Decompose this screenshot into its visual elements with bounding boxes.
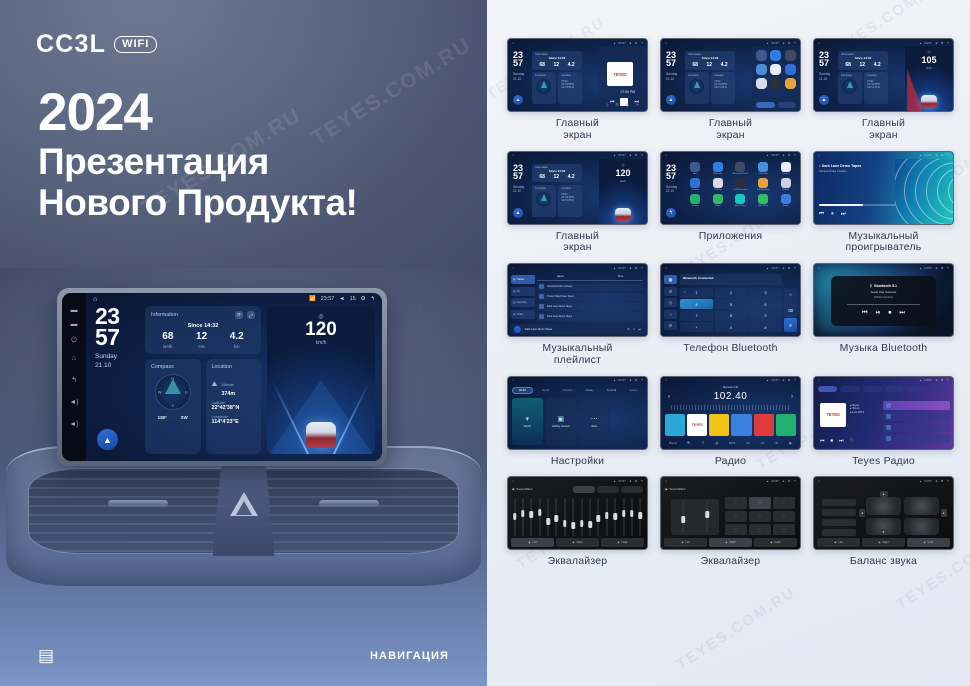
home-icon[interactable]: ⌂ [665, 153, 667, 157]
app-icon[interactable] [756, 50, 767, 61]
preset-key[interactable]: ♪ [749, 524, 771, 535]
dial-key[interactable]: 2 [715, 288, 748, 298]
teyes-tab[interactable] [818, 386, 837, 392]
app-icon[interactable] [735, 178, 745, 188]
dial-key[interactable]: 4 [680, 299, 713, 309]
pause-icon[interactable]: ⏸ [633, 328, 634, 331]
navigation-icon[interactable]: ▲ [97, 429, 118, 450]
slider-knob[interactable] [597, 515, 601, 522]
app-item[interactable]: FileManager [753, 178, 774, 191]
screen-thumbnail[interactable]: ⌂ ▴ 23:57 ◄ ⚙ ↰ WLANSoundCommonDisplayPe… [507, 376, 648, 450]
preset-grid[interactable]: ♪♪♪♪♪♪♪♪♪ [725, 497, 795, 535]
thumb-home-screen-speed[interactable]: ⌂ ▴ 23:57 ◄ ⚙ ↰2357 Sunday21.10 ▲ Inform… [507, 151, 648, 255]
settings-tab[interactable]: Sound [536, 387, 555, 394]
navigation-icon[interactable]: ▲ [513, 208, 523, 218]
mini-player[interactable]: Dark Lane Demo Tapes ⏮ ⏸ ⏭ [511, 324, 644, 334]
favorites-tab[interactable]: ☆ [664, 310, 677, 319]
screen-thumbnail[interactable]: ⌂ ▴ 23:57 ◄ ⚙ ↰ TEYES ● Teyes ● Top.ru ●… [813, 376, 954, 450]
app-icon[interactable] [756, 78, 767, 89]
back-icon[interactable]: ↰ [793, 41, 796, 45]
screen-thumbnail[interactable]: ⌂ ▴ 23:57 ◄ ⚙ ↰ ◉Sound Effect [507, 476, 648, 550]
prev-icon[interactable]: ⏮ [820, 438, 825, 444]
compass-card[interactable]: Compass [532, 72, 556, 104]
back-icon[interactable]: ↰ [640, 378, 643, 382]
knob-icon[interactable]: ▬ [71, 321, 78, 328]
app-icon[interactable] [785, 78, 796, 89]
next-icon[interactable]: ⏭ [841, 211, 846, 218]
speaker-icon[interactable] [904, 497, 939, 515]
balance-down-button[interactable]: ▼ [880, 529, 888, 535]
preset-button[interactable] [573, 486, 595, 493]
slider-knob[interactable] [705, 511, 709, 518]
home-icon[interactable]: ⌂ [93, 296, 97, 303]
home-icon[interactable]: ⌂ [818, 266, 820, 270]
thumb-music-playlist[interactable]: ⌂ ▴ 23:57 ◄ ⚙ ↰ ▤Tracks▤All▤Favorites▤Ar… [507, 263, 648, 367]
balance-preset[interactable] [822, 519, 856, 526]
back-icon[interactable]: ↰ [793, 266, 796, 270]
screen-thumbnail[interactable]: ⌂ ▴ 23:57 ◄ ⚙ ↰ ◉Sound Effect ♪♪♪♪♪♪♪♪♪ … [660, 476, 801, 550]
home-icon[interactable]: ⌂ [818, 378, 820, 382]
speaker-icon[interactable] [866, 497, 901, 515]
eq-band-slider[interactable] [580, 498, 583, 536]
home-icon[interactable]: ⌂ [665, 479, 667, 483]
app-icon[interactable] [781, 194, 791, 204]
app-icon[interactable] [690, 178, 700, 188]
eq-band-slider[interactable] [639, 498, 642, 536]
preset-tile[interactable] [754, 414, 774, 436]
recent-tab[interactable]: ◷ [664, 298, 677, 307]
app-item[interactable]: DVR Recorder [730, 178, 751, 191]
balance-preset[interactable] [822, 499, 856, 506]
dial-key[interactable]: 5 [715, 299, 748, 309]
footer-button[interactable]: ◉Right [709, 538, 752, 547]
eq-band-slider[interactable] [630, 498, 633, 536]
dial-key[interactable]: 6 [749, 299, 782, 309]
volume-down-icon[interactable]: ◄) [69, 399, 78, 406]
footer-button[interactable]: ◉Fade [754, 538, 797, 547]
next-station-icon[interactable]: › [791, 394, 793, 400]
favorite-icon[interactable]: ♡ [850, 438, 854, 444]
table-row[interactable]: Dark Lane Demo Tapes [537, 313, 643, 321]
station-row[interactable] [883, 401, 950, 410]
settings-card[interactable]: ▣ CarPlay Connect [546, 398, 577, 445]
app-item[interactable]: Camera [775, 162, 796, 175]
station-row[interactable] [883, 412, 950, 421]
slider-knob[interactable] [546, 518, 550, 525]
slider-knob[interactable] [630, 510, 634, 517]
location-card[interactable]: Location ⛰ Altitude 374m [206, 359, 262, 454]
search-icon[interactable]: 🔍 [687, 441, 691, 445]
gear-icon[interactable]: ⚙ [635, 378, 638, 382]
teyes-tab[interactable] [930, 386, 949, 392]
app-icon[interactable] [713, 178, 723, 188]
power-icon[interactable]: ⏻ [71, 337, 77, 344]
home-icon[interactable]: ⌂ [512, 153, 514, 157]
eq-band-slider[interactable] [605, 498, 608, 536]
screen-thumbnail[interactable]: ⌂ ▴ 23:57 ◄ ⚙ ↰2357 Sunday21.10 ▲ Inform… [813, 38, 954, 112]
app-item[interactable]: Gallery [775, 178, 796, 191]
repeat-icon[interactable]: ⟳ [636, 103, 639, 107]
stop-icon[interactable]: ⏹ [888, 310, 891, 317]
home-icon[interactable]: ⌂ [818, 41, 820, 45]
app-icon[interactable] [735, 162, 745, 172]
eq-band-slider[interactable] [597, 498, 600, 536]
balance-footer[interactable]: ◉Left◉Right◉Fade [817, 538, 950, 547]
dial-key[interactable]: 0 [715, 322, 748, 332]
progress-bar[interactable] [847, 304, 921, 305]
equalizer-footer[interactable]: ◉Left◉Right◉Fade [664, 538, 797, 547]
slider-knob[interactable] [538, 509, 542, 516]
thumb-home-screen-apps[interactable]: ⌂ ▴ 23:57 ◄ ⚙ ↰2357 Sunday21.10 ▲ Inform… [660, 38, 801, 142]
gear-icon[interactable]: ⚙ [635, 153, 638, 157]
gear-icon[interactable]: ⚙ [941, 479, 944, 483]
app-icon[interactable] [690, 194, 700, 204]
home-icon[interactable]: ⌂ [72, 355, 76, 362]
screen-thumbnail[interactable]: ⌂ ▴ 23:57 ◄ ⚙ ↰2357 Sunday21.10 ▲ Inform… [507, 151, 648, 225]
settings-tab[interactable]: Personal [602, 387, 621, 394]
media-panel[interactable]: TEYES 07:50 PM ⏮⏭ ⤨☰▥⟳ [599, 46, 647, 111]
backspace-icon[interactable]: ⌫ [784, 303, 797, 317]
app-icon[interactable] [735, 194, 745, 204]
app-icon[interactable] [785, 50, 796, 61]
back-icon[interactable]: ↰ [946, 479, 949, 483]
app-icon[interactable] [770, 50, 781, 61]
app-item[interactable]: Calculator [753, 162, 774, 175]
balance-presets[interactable] [822, 499, 856, 535]
gear-icon[interactable]: ⚙ [788, 41, 791, 45]
slider-knob[interactable] [580, 520, 584, 527]
screen-thumbnail[interactable]: ⌂ ▴ 23:57 ◄ ⚙ ↰ ▲ ▼ ◄ ► ◉Left◉Right◉Fade [813, 476, 954, 550]
thumb-bluetooth-music[interactable]: ⌂ ▴ 23:57 ◄ ⚙ ↰ ᛒBluetooth 5.1 Feels Lik… [813, 263, 954, 367]
footer-button[interactable]: ◉Left [664, 538, 707, 547]
settings-card[interactable]: ▾ WLAN [512, 398, 543, 445]
information-card[interactable]: Information ⟳ ⤢ Since 14:32 [145, 306, 261, 354]
screen-thumbnail[interactable]: ⌂ ▴ 23:57 ◄ ⚙ ↰ ▤Tracks▤All▤Favorites▤Ar… [507, 263, 648, 337]
dialpad-tab[interactable]: ▦ [664, 275, 677, 284]
app-item[interactable]: Radio [775, 194, 796, 207]
information-card[interactable]: Information Since 14:32 68124.2 [838, 51, 888, 70]
eq-band-slider[interactable] [563, 498, 566, 536]
eq-icon[interactable]: ▥ [626, 103, 629, 107]
media-controls[interactable]: ⏮⏯⏹⏭ [862, 310, 905, 317]
thumb-home-screen-media[interactable]: ⌂ ▴ 23:57 ◄ ⚙ ↰2357 Sunday21.10 ▲ Inform… [507, 38, 648, 142]
dial-key[interactable]: 3 [749, 288, 782, 298]
phone-actions[interactable]: ☆ ⌫ ✆ [784, 288, 797, 332]
prev-icon[interactable]: ⏮ [819, 211, 824, 218]
app-item[interactable]: Maps [708, 194, 729, 207]
rds-icon[interactable]: RDS [729, 441, 735, 445]
balance-pad[interactable] [866, 497, 939, 535]
app-icon[interactable] [690, 162, 700, 172]
app-drawer-panel[interactable] [752, 46, 800, 111]
mic-icon[interactable]: ▬ [71, 307, 78, 314]
information-card[interactable]: Information Since 14:32 68124.2 [532, 164, 582, 183]
eq-band-slider[interactable] [530, 498, 533, 536]
balance-right-button[interactable]: ► [941, 509, 947, 517]
navigation-icon[interactable]: ▲ [666, 95, 676, 105]
app-icon[interactable] [713, 162, 723, 172]
preset-key[interactable]: ♪ [773, 524, 795, 535]
slider-knob[interactable] [639, 512, 643, 519]
call-icon[interactable]: ✆ [784, 318, 797, 332]
preset-key[interactable]: ♪ [725, 524, 747, 535]
teyes-tab[interactable] [863, 386, 882, 392]
slider[interactable] [706, 502, 709, 532]
media-controls[interactable]: ⏮⏸⏭ [819, 211, 846, 218]
next-icon[interactable]: ⏭ [839, 438, 844, 444]
gear-icon[interactable]: ⚙ [788, 153, 791, 157]
balance-up-button[interactable]: ▲ [880, 491, 888, 497]
home-icon[interactable]: ⌂ [512, 41, 514, 45]
preset-key[interactable]: ♪ [773, 511, 795, 522]
dock-button[interactable] [756, 102, 775, 108]
compass-card[interactable]: Compass N S W E [145, 359, 201, 454]
af-icon[interactable]: AF [761, 441, 765, 445]
media-controls[interactable]: ⏮⏹⏭♡ [820, 438, 854, 444]
app-item[interactable]: Play Store [753, 194, 774, 207]
back-icon[interactable]: ↰ [666, 208, 676, 218]
preset-key[interactable]: ♪ [725, 511, 747, 522]
table-row[interactable]: Toosie Slide Drake Tapes [537, 293, 643, 301]
thumb-radio[interactable]: ⌂ ▴ 23:57 ◄ ⚙ ↰ Macedon FM ‹ 102.40 › TE… [660, 376, 801, 468]
media-extra-controls[interactable]: ⤨☰▥⟳ [605, 103, 639, 107]
preset-key[interactable]: ♪ [749, 497, 771, 508]
app-icon[interactable] [770, 64, 781, 75]
compass-card[interactable]: Compass [838, 72, 862, 104]
eq-band-slider[interactable] [589, 498, 592, 536]
equalizer-footer[interactable]: ◉Left◉Right◉Fade [511, 538, 644, 547]
screen-thumbnail[interactable]: ⌂ ▴ 23:57 ◄ ⚙ ↰ ▦ ☰ ◷ ☆ ⚙ Bluetooth Conn… [660, 263, 801, 337]
settings-tab[interactable]: ⚙ [664, 321, 677, 330]
footer-button[interactable]: ◉Fade [601, 538, 644, 547]
home-icon[interactable]: ⌂ [665, 41, 667, 45]
contacts-tab[interactable]: ☰ [664, 287, 677, 296]
app-item[interactable]: Bluetooth [708, 162, 729, 175]
sidebar-item[interactable]: ▤Favorites [511, 298, 535, 307]
screen-thumbnail[interactable]: ⌂ ▴ 23:57 ◄ ⚙ ↰2357 Sunday21.10 ▲ Inform… [660, 38, 801, 112]
settings-tab[interactable]: Common [558, 387, 577, 394]
radio-toolbar[interactable]: Band🔍 ☰▥ RDSTA AF⚙ ▦ [664, 439, 797, 447]
footer-button[interactable]: ◉Left [511, 538, 554, 547]
information-card[interactable]: Information Since 14:32 68124.2 [532, 51, 582, 70]
preset-tile[interactable] [731, 414, 751, 436]
pause-icon[interactable]: ⏸ [831, 211, 834, 218]
back-icon[interactable]: ↰ [946, 378, 949, 382]
teyes-tab[interactable] [885, 386, 904, 392]
back-icon[interactable]: ↰ [640, 479, 643, 483]
speed-panel[interactable]: ◎ 105 km/h [905, 46, 953, 111]
home-icon[interactable]: ⌂ [512, 378, 514, 382]
settings-cards[interactable]: ▾ WLAN ▣ CarPlay Connect ⋯ More [512, 398, 643, 445]
stop-icon[interactable]: ⏹ [831, 438, 834, 444]
app-icon[interactable] [758, 194, 768, 204]
back-icon[interactable]: ↰ [793, 479, 796, 483]
preset-tile[interactable] [776, 414, 796, 436]
app-icon[interactable] [781, 178, 791, 188]
back-icon[interactable]: ↰ [640, 41, 643, 45]
teyes-tab[interactable] [840, 386, 859, 392]
app-icon[interactable] [713, 194, 723, 204]
hazard-button[interactable] [213, 464, 275, 556]
screen-thumbnail[interactable]: ⌂ ▴ 23:57 ◄ ⚙ ↰2357 Sunday21.10 ▲ Inform… [507, 38, 648, 112]
gear-icon[interactable]: ⚙ [788, 266, 791, 270]
ta-icon[interactable]: TA [746, 441, 750, 445]
dial-key[interactable]: 9 [749, 311, 782, 321]
preset-tile[interactable]: TEYES [687, 414, 707, 436]
slider-knob[interactable] [605, 512, 609, 519]
screen-thumbnail[interactable]: ⌂ ▴ 23:57 ◄ ⚙ ↰ ᛒBluetooth 5.1 Feels Lik… [813, 263, 954, 337]
back-icon[interactable]: ↰ [946, 266, 949, 270]
eq-band-slider[interactable] [555, 498, 558, 536]
thumb-applications[interactable]: ⌂ ▴ 23:57 ◄ ⚙ ↰ 2357 Sunday21.10 ↰ Avin … [660, 151, 801, 255]
thumb-music-player[interactable]: ⌂ ▴ 23:57 ◄ ⚙ ↰ ♪ Dark Lane Demo Tapes O… [813, 151, 954, 255]
balance-preset[interactable] [822, 529, 856, 536]
frequency-scale[interactable] [671, 405, 790, 410]
footer-button[interactable]: ◉Left [817, 538, 860, 547]
equalizer-bands[interactable] [513, 498, 642, 536]
screen-thumbnail[interactable]: ⌂ ▴ 23:57 ◄ ⚙ ↰ 2357 Sunday21.10 ↰ Avin … [660, 151, 801, 225]
next-icon[interactable]: ⏭ [899, 310, 904, 317]
app-icon[interactable] [785, 64, 796, 75]
settings-card[interactable]: ⋯ More [579, 398, 610, 445]
expand-icon[interactable]: ⤢ [247, 311, 255, 319]
slider-knob[interactable] [588, 521, 592, 528]
settings-tab[interactable]: Display [580, 387, 599, 394]
gear-icon[interactable]: ⚙ [635, 41, 638, 45]
back-icon[interactable]: ↰ [946, 153, 949, 157]
preset-key[interactable]: ♪ [749, 511, 771, 522]
home-icon[interactable]: ⌂ [665, 266, 667, 270]
band-icon[interactable]: Band [669, 441, 676, 445]
table-row[interactable]: Oshawa Drake Ovdeam [537, 283, 643, 291]
dial-key[interactable]: # [749, 322, 782, 332]
dock-button[interactable] [778, 102, 797, 108]
station-row[interactable] [883, 423, 950, 432]
location-card[interactable]: Location 374m 22°42'38"N 114°4'23"E [711, 72, 735, 104]
slider-knob[interactable] [681, 516, 685, 523]
preset-tile[interactable] [665, 414, 685, 436]
location-card[interactable]: Location 374m 22°42'38"N 114°4'23"E [864, 72, 888, 104]
slider-knob[interactable] [622, 510, 626, 517]
balance-left-button[interactable]: ◄ [859, 509, 865, 517]
thumb-settings[interactable]: ⌂ ▴ 23:57 ◄ ⚙ ↰ WLANSoundCommonDisplayPe… [507, 376, 648, 468]
back-icon[interactable]: ↰ [640, 266, 643, 270]
app-item[interactable]: Multi Player [730, 194, 751, 207]
eq-band-slider[interactable] [538, 498, 541, 536]
teyes-tab[interactable] [907, 386, 926, 392]
gear-icon[interactable]: ⚙ [941, 378, 944, 382]
app-item[interactable]: Chrome [685, 178, 706, 191]
location-card[interactable]: Location 374m 22°42'38"N 114°4'23"E [558, 185, 582, 217]
eq-band-slider[interactable] [547, 498, 550, 536]
gear-icon[interactable]: ⚙ [361, 296, 366, 302]
preset-key[interactable]: ♪ [725, 497, 747, 508]
station-list[interactable] [883, 401, 950, 446]
eq-icon[interactable]: ▥ [715, 441, 718, 445]
gear-icon[interactable]: ⚙ [941, 153, 944, 157]
navigation-icon[interactable]: ▲ [513, 95, 523, 105]
prev-icon[interactable]: ⏮ [627, 328, 629, 331]
gear-icon[interactable]: ⚙ [941, 41, 944, 45]
slider-knob[interactable] [613, 513, 617, 520]
preset-tiles[interactable]: TEYES [665, 414, 796, 436]
preset-button[interactable] [621, 486, 643, 493]
back-icon[interactable]: ↰ [640, 153, 643, 157]
sidebar-item[interactable]: ▤All [511, 287, 535, 296]
play-pause-icon[interactable]: ⏯ [876, 310, 881, 317]
app-icon[interactable] [781, 162, 791, 172]
table-row[interactable]: Dark Lane Demo Tapes [537, 303, 643, 311]
apps-icon[interactable]: ▦ [789, 441, 792, 445]
eq-band-slider[interactable] [521, 498, 524, 536]
navigation-icon[interactable]: ▲ [819, 95, 829, 105]
slider-knob[interactable] [555, 515, 559, 522]
home-icon[interactable]: ⌂ [512, 266, 514, 270]
thumb-teyes-radio[interactable]: ⌂ ▴ 23:57 ◄ ⚙ ↰ TEYES ● Teyes ● Top.ru ●… [813, 376, 954, 468]
next-icon[interactable]: ⏭ [639, 328, 641, 331]
dial-key[interactable]: * [680, 322, 713, 332]
dial-key[interactable]: 7 [680, 311, 713, 321]
settings-tab[interactable]: WLAN [512, 387, 533, 394]
shuffle-icon[interactable]: ⤨ [605, 103, 608, 107]
volume-icon[interactable]: ◄ [339, 296, 344, 302]
app-icon[interactable] [756, 64, 767, 75]
gear-icon[interactable]: ⚙ [635, 479, 638, 483]
gear-icon[interactable]: ⚙ [788, 378, 791, 382]
refresh-icon[interactable]: ⟳ [235, 311, 243, 319]
home-icon[interactable]: ⌂ [818, 153, 820, 157]
thumb-home-screen-road[interactable]: ⌂ ▴ 23:57 ◄ ⚙ ↰2357 Sunday21.10 ▲ Inform… [813, 38, 954, 142]
settings-icon[interactable]: ⚙ [775, 441, 778, 445]
list-icon[interactable]: ☰ [702, 441, 705, 445]
slider-knob[interactable] [521, 510, 525, 517]
teyes-tabs[interactable] [818, 386, 949, 392]
back-icon[interactable]: ↰ [793, 378, 796, 382]
balance-preset[interactable] [822, 509, 856, 516]
slider-knob[interactable] [513, 513, 517, 520]
preset-key[interactable]: ♪ [773, 497, 795, 508]
dial-key[interactable]: 1 [680, 288, 713, 298]
eq-band-slider[interactable] [572, 498, 575, 536]
location-card[interactable]: Location 374m 22°42'38"N 114°4'23"E [558, 72, 582, 104]
app-item[interactable]: Avin [685, 162, 706, 175]
eq-band-slider[interactable] [513, 498, 516, 536]
dial-key[interactable]: 8 [715, 311, 748, 321]
app-item[interactable]: Bluetooth Music [730, 162, 751, 175]
back-icon[interactable]: ↰ [71, 377, 77, 384]
back-icon[interactable]: ↰ [370, 296, 375, 302]
screen-thumbnail[interactable]: ⌂ ▴ 23:57 ◄ ⚙ ↰ Macedon FM ‹ 102.40 › TE… [660, 376, 801, 450]
sidebar-item[interactable]: ▤Tracks [511, 275, 535, 284]
thumb-equalizer-presets[interactable]: ⌂ ▴ 23:57 ◄ ⚙ ↰ ◉Sound Effect ♪♪♪♪♪♪♪♪♪ … [660, 476, 801, 568]
volume-up-icon[interactable]: ◄) [69, 421, 78, 428]
preset-button[interactable] [597, 486, 619, 493]
thumb-equalizer-bands[interactable]: ⌂ ▴ 23:57 ◄ ⚙ ↰ ◉Sound Effect [507, 476, 648, 568]
preset-buttons[interactable] [573, 486, 643, 493]
home-icon[interactable]: ⌂ [818, 479, 820, 483]
gear-icon[interactable]: ⚙ [788, 479, 791, 483]
information-card[interactable]: Information Since 14:32 68124.2 [685, 51, 735, 70]
speaker-icon[interactable] [904, 518, 939, 536]
thumb-sound-balance[interactable]: ⌂ ▴ 23:57 ◄ ⚙ ↰ ▲ ▼ ◄ ► ◉Left◉Right◉Fade… [813, 476, 954, 568]
gear-icon[interactable]: ⚙ [635, 266, 638, 270]
home-icon[interactable]: ⌂ [665, 378, 667, 382]
app-icon[interactable] [758, 162, 768, 172]
app-item[interactable]: Gmaps [685, 194, 706, 207]
back-icon[interactable]: ↰ [946, 41, 949, 45]
settings-tabs[interactable]: WLANSoundCommonDisplayPersonalSystem [512, 387, 643, 394]
screen-thumbnail[interactable]: ⌂ ▴ 23:57 ◄ ⚙ ↰ ♪ Dark Lane Demo Tapes O… [813, 151, 954, 225]
